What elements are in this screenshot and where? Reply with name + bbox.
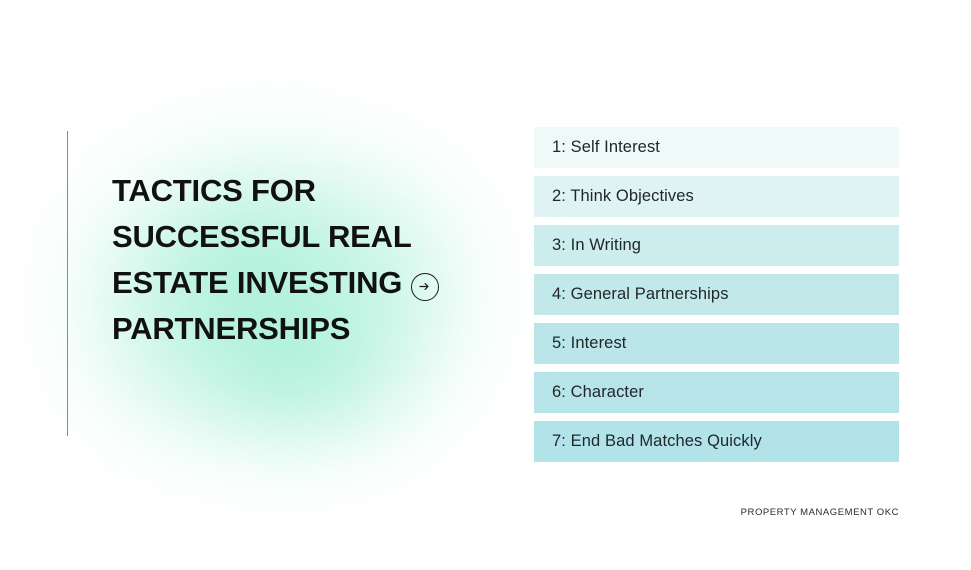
- tactics-list: 1: Self Interest 2: Think Objectives 3: …: [534, 127, 899, 462]
- headline-block: TACTICS FOR SUCCESSFUL REAL ESTATE INVES…: [112, 168, 472, 352]
- list-item-label: 7: End Bad Matches Quickly: [552, 433, 762, 450]
- list-item-label: 2: Think Objectives: [552, 188, 694, 205]
- list-item[interactable]: 4: General Partnerships: [534, 274, 899, 315]
- slide-canvas: TACTICS FOR SUCCESSFUL REAL ESTATE INVES…: [0, 0, 971, 570]
- list-item[interactable]: 5: Interest: [534, 323, 899, 364]
- list-item-label: 4: General Partnerships: [552, 286, 729, 303]
- headline-line-3-row: ESTATE INVESTING: [112, 260, 472, 306]
- left-accent-rule: [67, 131, 68, 436]
- headline-line-2: SUCCESSFUL REAL: [112, 214, 472, 260]
- list-item[interactable]: 6: Character: [534, 372, 899, 413]
- headline-line-3: ESTATE INVESTING: [112, 265, 402, 300]
- headline-line-4: PARTNERSHIPS: [112, 306, 472, 352]
- list-item[interactable]: 2: Think Objectives: [534, 176, 899, 217]
- list-item[interactable]: 7: End Bad Matches Quickly: [534, 421, 899, 462]
- brand-footer: PROPERTY MANAGEMENT OKC: [741, 507, 899, 518]
- list-item[interactable]: 1: Self Interest: [534, 127, 899, 168]
- list-item-label: 5: Interest: [552, 335, 626, 352]
- arrow-right-circle-icon[interactable]: [411, 273, 439, 301]
- list-item-label: 3: In Writing: [552, 237, 641, 254]
- list-item-label: 1: Self Interest: [552, 139, 660, 156]
- headline-line-1: TACTICS FOR: [112, 168, 472, 214]
- page-title: TACTICS FOR SUCCESSFUL REAL ESTATE INVES…: [112, 168, 472, 352]
- list-item-label: 6: Character: [552, 384, 644, 401]
- list-item[interactable]: 3: In Writing: [534, 225, 899, 266]
